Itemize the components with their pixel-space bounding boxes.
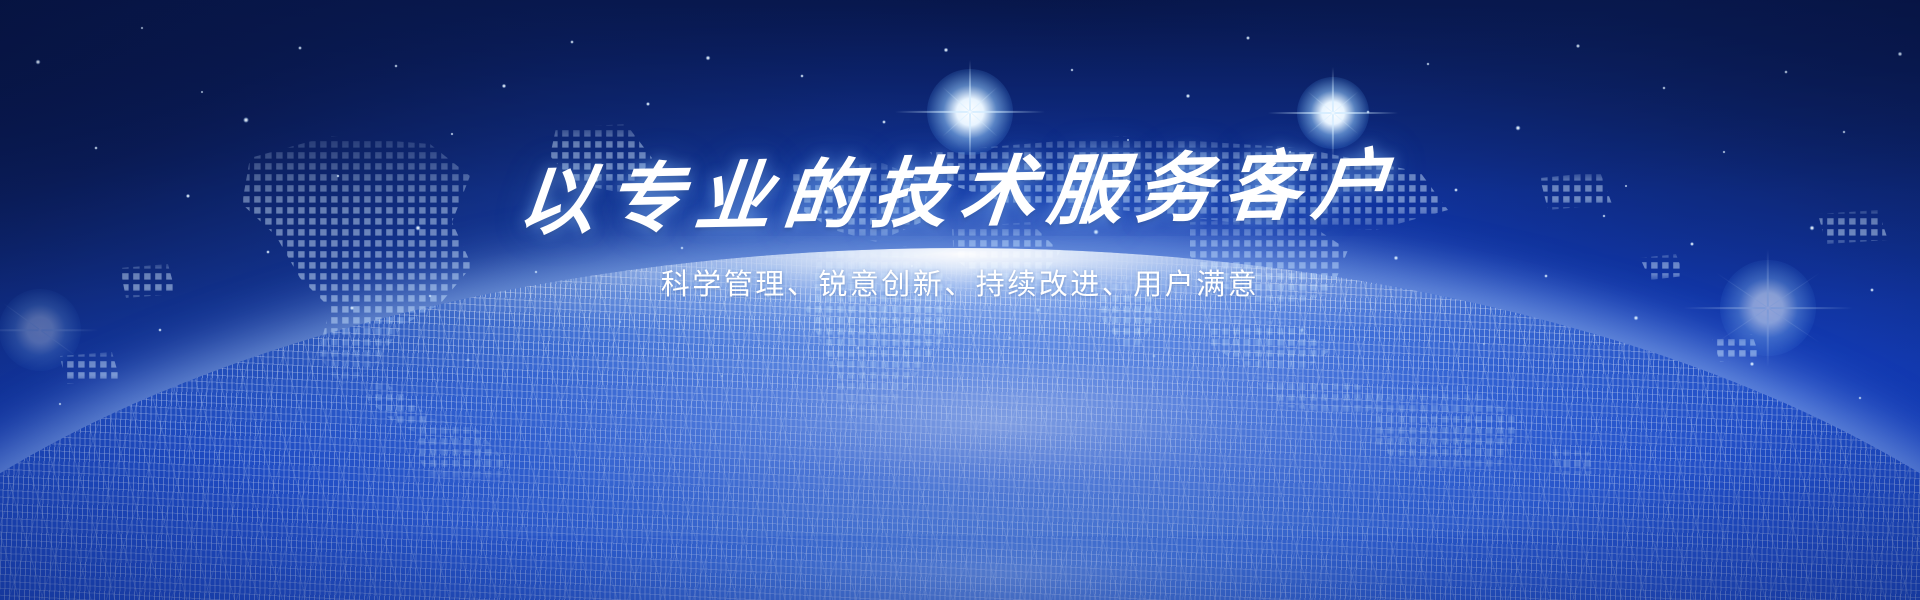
banner-title: 以专业的技术服务客户 (0, 132, 1920, 254)
hero-banner: 以专业的技术服务客户 科学管理、锐意创新、持续改进、用户满意 (0, 0, 1920, 600)
banner-content: 以专业的技术服务客户 科学管理、锐意创新、持续改进、用户满意 (0, 150, 1920, 303)
banner-subtitle: 科学管理、锐意创新、持续改进、用户满意 (0, 261, 1920, 303)
